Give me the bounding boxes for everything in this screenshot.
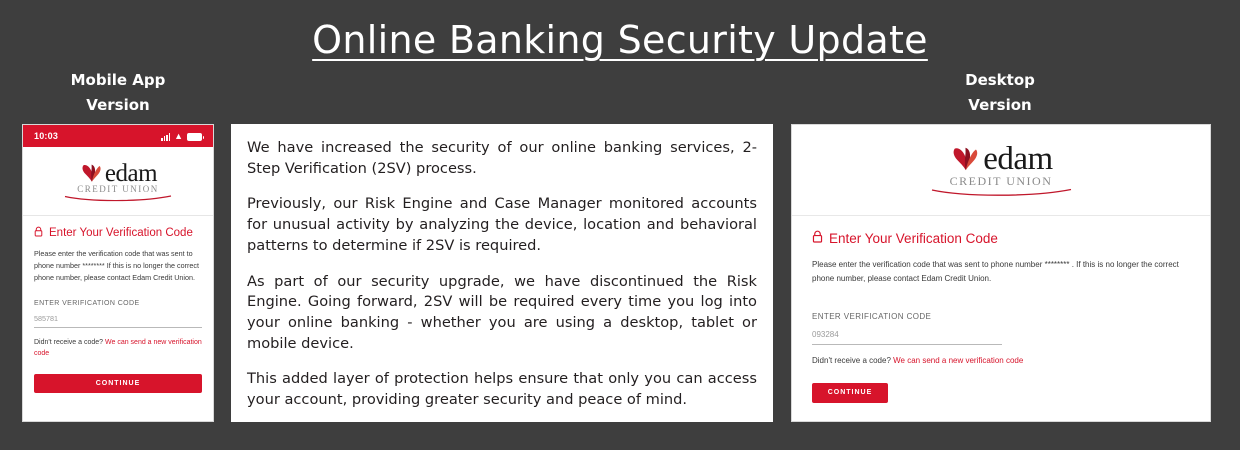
edam-credit-union-logo-desktop: edam CREDIT UNION: [929, 143, 1074, 197]
battery-icon: [187, 133, 202, 141]
desktop-verification-code-value: 093284: [812, 330, 1002, 344]
article-paragraph-4: This added layer of protection helps ens…: [247, 369, 757, 410]
caption-mobile-version: Mobile App Version: [18, 68, 218, 118]
desktop-verification-code-input[interactable]: 093284: [812, 330, 1002, 345]
mobile-continue-button[interactable]: CONTINUE: [34, 374, 202, 393]
caption-mobile-line1: Mobile App: [18, 68, 218, 93]
mobile-verification-code-input[interactable]: 585781: [34, 314, 202, 328]
desktop-field-label: ENTER VERIFICATION CODE: [812, 312, 1190, 321]
lock-icon: [34, 226, 43, 240]
desktop-resend-prompt: Didn't receive a code?: [812, 356, 893, 365]
signal-icon: [161, 133, 170, 141]
tulip-logo-icon: [79, 161, 105, 187]
status-bar-icons: ▲: [161, 132, 202, 141]
caption-desktop-line2: Version: [900, 93, 1100, 118]
logo-swoosh-icon: [63, 195, 173, 202]
mobile-resend-line: Didn't receive a code? We can send a new…: [34, 337, 202, 359]
status-bar-clock: 10:03: [34, 131, 58, 141]
desktop-form-heading: Enter Your Verification Code: [812, 230, 1190, 246]
wifi-icon: ▲: [174, 132, 183, 141]
mobile-resend-prompt: Didn't receive a code?: [34, 339, 105, 346]
announcement-text-panel: We have increased the security of our on…: [231, 124, 773, 422]
mobile-field-label: ENTER VERIFICATION CODE: [34, 300, 202, 307]
desktop-continue-button[interactable]: CONTINUE: [812, 383, 888, 403]
caption-desktop-line1: Desktop: [900, 68, 1100, 93]
lock-icon-desktop: [812, 230, 823, 246]
desktop-resend-line: Didn't receive a code? We can send a new…: [812, 356, 1190, 365]
mobile-logo-area: edam CREDIT UNION: [23, 147, 213, 216]
caption-desktop-version: Desktop Version: [900, 68, 1100, 118]
mobile-form-heading-text: Enter Your Verification Code: [49, 227, 193, 239]
edam-credit-union-logo: edam CREDIT UNION: [63, 161, 173, 202]
mobile-form-heading: Enter Your Verification Code: [34, 226, 202, 240]
desktop-verification-form: Enter Your Verification Code Please ente…: [792, 216, 1210, 403]
desktop-form-heading-text: Enter Your Verification Code: [829, 231, 998, 246]
caption-mobile-line2: Version: [18, 93, 218, 118]
article-paragraph-1: We have increased the security of our on…: [247, 138, 757, 179]
article-paragraph-3: As part of our security upgrade, we have…: [247, 272, 757, 355]
desktop-resend-link[interactable]: We can send a new verification code: [893, 356, 1023, 365]
article-paragraph-2: Previously, our Risk Engine and Case Man…: [247, 194, 757, 256]
mobile-form-body: Please enter the verification code that …: [34, 248, 202, 284]
mobile-app-mockup: 10:03 ▲ edam CREDIT UNION: [22, 124, 214, 422]
logo-swoosh-icon-desktop: [929, 188, 1074, 197]
mobile-status-bar: 10:03 ▲: [23, 125, 213, 147]
page-title: Online Banking Security Update: [0, 16, 1240, 64]
logo-wordmark: edam: [105, 162, 157, 186]
desktop-web-mockup: edam CREDIT UNION Enter Your Verificatio…: [791, 124, 1211, 422]
tulip-logo-icon-desktop: [949, 143, 983, 177]
desktop-form-body: Please enter the verification code that …: [812, 258, 1190, 286]
desktop-logo-area: edam CREDIT UNION: [792, 125, 1210, 216]
logo-wordmark-desktop: edam: [983, 144, 1052, 175]
mobile-verification-code-value: 585781: [34, 314, 202, 327]
mobile-verification-form: Enter Your Verification Code Please ente…: [23, 216, 213, 393]
